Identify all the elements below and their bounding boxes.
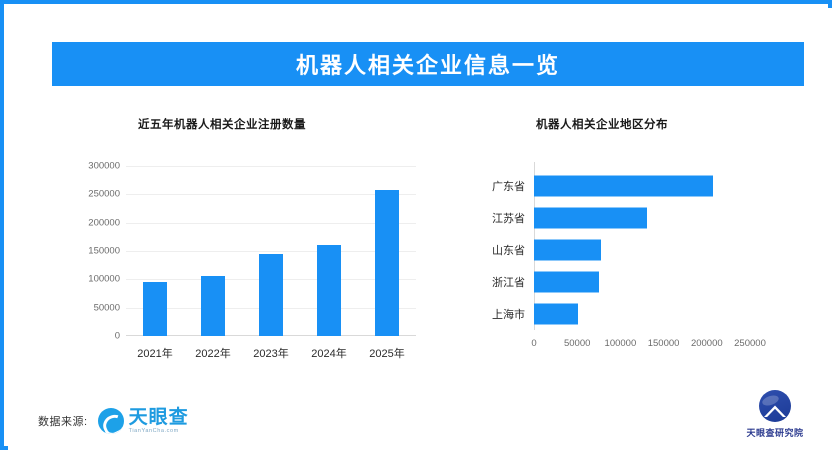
- tianyancha-name-cn: 天眼查: [129, 408, 189, 427]
- x-axis-tick-label: 2024年: [311, 345, 346, 361]
- regional-distribution-chart: 机器人相关企业地区分布 0500001000001500002000002500…: [448, 108, 798, 373]
- x-axis-tick-label: 0: [531, 338, 536, 349]
- chart-title-regional-distribution: 机器人相关企业地区分布: [536, 116, 668, 132]
- research-institute-logo: 天眼查研究院: [730, 390, 820, 439]
- x-axis-tick-label: 2023年: [253, 345, 288, 361]
- tianyancha-name-en: TianYanCha.com: [129, 429, 189, 435]
- y-axis-tick-label: 300000: [88, 161, 120, 172]
- x-axis-tick-label: 150000: [648, 338, 680, 349]
- data-source: 数据来源: 天眼查 TianYanCha.com: [38, 408, 189, 435]
- y-axis-tick-label: 150000: [88, 246, 120, 257]
- y-axis-tick-label: 100000: [88, 274, 120, 285]
- y-axis-tick-label: 江苏省: [492, 210, 525, 226]
- x-axis-tick-label: 2022年: [195, 345, 230, 361]
- bar-山东省: [534, 240, 601, 261]
- tianyancha-eye-icon: [98, 408, 124, 434]
- chart-title-annual-registrations: 近五年机器人相关企业注册数量: [138, 116, 306, 132]
- annual-registrations-plot-area: 0500001000001500002000002500003000002021…: [126, 166, 416, 336]
- x-axis-tick-label: 2021年: [137, 345, 172, 361]
- regional-distribution-plot-area: 050000100000150000200000250000广东省江苏省山东省浙…: [534, 170, 750, 330]
- x-axis-tick-label: 250000: [734, 338, 766, 349]
- bar-广东省: [534, 176, 713, 197]
- y-axis-tick-label: 200000: [88, 217, 120, 228]
- y-axis-tick-label: 浙江省: [492, 274, 525, 290]
- bar-2023年: [259, 254, 283, 336]
- bar-2021年: [143, 282, 167, 336]
- bar-2022年: [201, 276, 225, 336]
- y-axis-tick-label: 上海市: [492, 306, 525, 322]
- tianyancha-wordmark: 天眼查 TianYanCha.com: [129, 408, 189, 435]
- tianyancha-logo: 天眼查 TianYanCha.com: [98, 408, 189, 435]
- bar-2025年: [375, 190, 399, 336]
- x-axis-tick-label: 200000: [691, 338, 723, 349]
- annual-registrations-chart: 近五年机器人相关企业注册数量 0500001000001500002000002…: [58, 108, 438, 373]
- institute-name: 天眼查研究院: [746, 426, 803, 439]
- y-axis-tick-label: 0: [115, 331, 120, 342]
- gridline: [126, 223, 416, 224]
- bar-2024年: [317, 245, 341, 336]
- poster-frame: 机器人相关企业信息一览 近五年机器人相关企业注册数量 0500001000001…: [0, 0, 832, 450]
- y-axis-tick-label: 250000: [88, 189, 120, 200]
- x-axis-tick-label: 2025年: [369, 345, 404, 361]
- gridline: [126, 194, 416, 195]
- y-axis-tick-label: 山东省: [492, 242, 525, 258]
- title-banner: 机器人相关企业信息一览: [52, 42, 804, 86]
- gridline: [126, 251, 416, 252]
- institute-mountain-icon: [759, 390, 791, 422]
- page-title: 机器人相关企业信息一览: [296, 48, 560, 80]
- x-axis-tick-label: 50000: [564, 338, 590, 349]
- y-axis-tick-label: 广东省: [492, 178, 525, 194]
- y-axis-tick-label: 50000: [94, 302, 120, 313]
- bar-江苏省: [534, 208, 647, 229]
- data-source-label: 数据来源:: [38, 413, 88, 429]
- bar-浙江省: [534, 272, 599, 293]
- x-axis-tick-label: 100000: [605, 338, 637, 349]
- poster-body: 机器人相关企业信息一览 近五年机器人相关企业注册数量 0500001000001…: [8, 8, 832, 450]
- gridline: [126, 166, 416, 167]
- bar-上海市: [534, 304, 578, 325]
